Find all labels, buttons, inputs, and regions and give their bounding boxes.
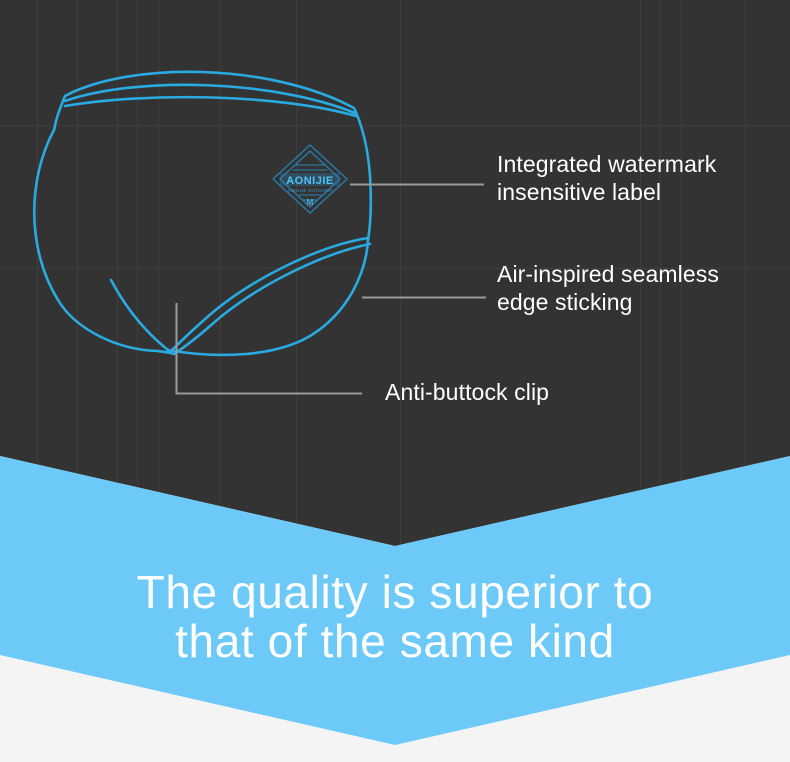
- leader-line-anti-buttock: [177, 303, 363, 394]
- dark-product-panel: AONIJIE AONIJIE OUTDOOR M Integrated wat…: [0, 0, 790, 546]
- annotation-integrated-watermark: Integrated watermark insensitive label: [497, 150, 716, 207]
- infographic-canvas: AONIJIE AONIJIE OUTDOOR M Integrated wat…: [0, 0, 790, 762]
- banner-headline: The quality is superior to that of the s…: [0, 568, 790, 666]
- annotation-air-inspired-seamless: Air-inspired seamless edge sticking: [497, 260, 719, 317]
- annotation-anti-buttock-clip: Anti-buttock clip: [385, 378, 549, 406]
